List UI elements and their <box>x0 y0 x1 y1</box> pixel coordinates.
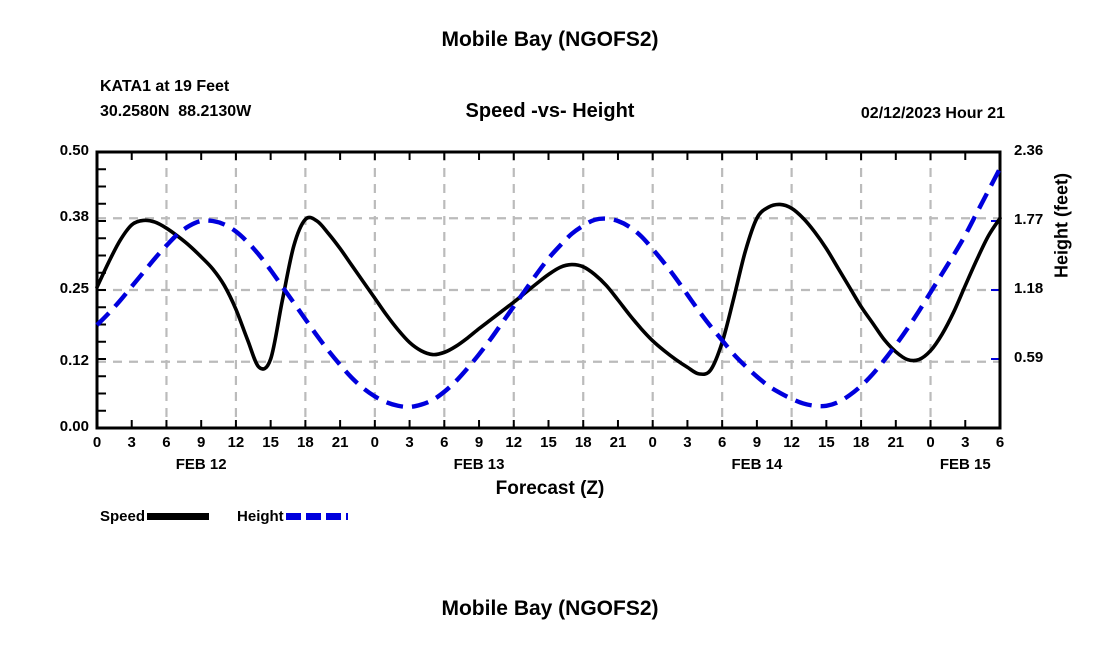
chart-page: Mobile Bay (NGOFS2) KATA1 at 19 Feet 30.… <box>0 0 1100 650</box>
y-tick-label-right: 0.59 <box>1014 349 1084 366</box>
page-title-top: Mobile Bay (NGOFS2) <box>0 28 1100 52</box>
legend-item-height: Height <box>237 508 348 525</box>
y-tick-label-right: 1.18 <box>1014 280 1084 297</box>
y-tick-label-right: 1.77 <box>1014 211 1084 228</box>
legend-label-speed: Speed <box>100 508 145 525</box>
y-tick-label-left: 0.12 <box>19 352 89 369</box>
x-axis-day-label: FEB 13 <box>409 456 549 473</box>
y-tick-label-left: 0.00 <box>19 418 89 435</box>
station-name-depth: KATA1 at 19 Feet <box>100 74 251 99</box>
x-axis-label: Forecast (Z) <box>0 478 1100 500</box>
y-tick-label-right: 2.36 <box>1014 142 1084 159</box>
gridlines <box>97 152 1000 428</box>
legend-swatch-height-icon <box>286 513 348 520</box>
y-tick-label-left: 0.38 <box>19 208 89 225</box>
plot-area <box>97 152 1000 428</box>
legend-swatch-speed-icon <box>147 513 209 520</box>
legend-label-height: Height <box>237 508 284 525</box>
series-line-height <box>97 168 1000 407</box>
plot-canvas <box>97 152 1000 428</box>
x-tick-label: 6 <box>980 434 1020 451</box>
legend-item-speed: Speed <box>100 508 237 525</box>
y-tick-label-left: 0.25 <box>19 280 89 297</box>
forecast-datestamp: 02/12/2023 Hour 21 <box>861 105 1005 123</box>
x-axis-day-label: FEB 14 <box>687 456 827 473</box>
x-axis-day-label: FEB 15 <box>895 456 1035 473</box>
y-tick-label-left: 0.50 <box>19 142 89 159</box>
x-axis-day-label: FEB 12 <box>131 456 271 473</box>
legend: Speed Height <box>100 508 348 525</box>
page-title-bottom: Mobile Bay (NGOFS2) <box>0 597 1100 621</box>
